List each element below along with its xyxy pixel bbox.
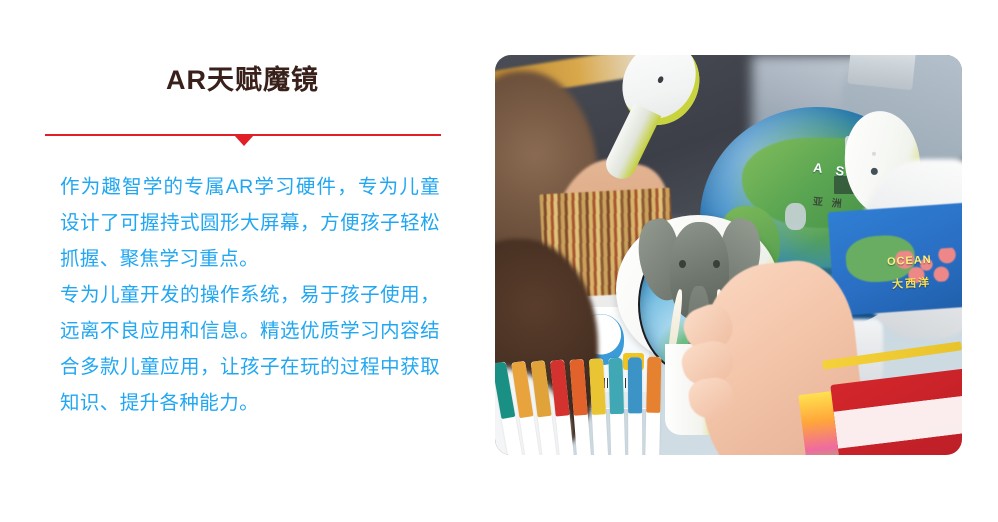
marker-pen (628, 357, 642, 455)
page-title: AR天赋魔镜 (45, 64, 440, 96)
package-drip-graphic (833, 393, 962, 450)
marker-pen (589, 358, 609, 455)
text-panel: AR天赋魔镜 作为趣智学的专属AR学习硬件，专为儿童设计了可握持式圆形大屏幕，方… (0, 0, 480, 522)
product-photo: A S I A 亚 洲 INDIAN OCEAN NORTH OCEAN 大 (495, 55, 962, 455)
device-top-handle (602, 103, 662, 183)
description-paragraph-2: 专为儿童开发的操作系统，易于孩子使用，远离不良应用和信息。精选优质学习内容结合多… (60, 277, 440, 421)
description-block: 作为趣智学的专属AR学习硬件，专为儿童设计了可握持式圆形大屏幕，方便孩子轻松抓握… (60, 169, 440, 421)
marker-pen-cap (550, 359, 569, 416)
map-label-ocean-chinese: 大西洋 (892, 274, 932, 292)
globe-label-asia-chinese: 亚 洲 (812, 193, 845, 211)
marker-pen-cap (570, 359, 588, 416)
photo-scene: A S I A 亚 洲 INDIAN OCEAN NORTH OCEAN 大 (495, 55, 962, 455)
marker-pen-cap (589, 358, 606, 414)
marker-pen (645, 357, 661, 455)
marker-pen-cap (646, 357, 661, 413)
marker-pen (609, 358, 626, 455)
globe-koala-icon (785, 203, 806, 230)
product-feature-banner: AR天赋魔镜 作为趣智学的专属AR学习硬件，专为儿童设计了可握持式圆形大屏幕，方… (0, 0, 998, 522)
map-label-ocean: OCEAN (887, 254, 932, 268)
marker-pen-cap (531, 360, 552, 417)
marker-pen-cap (609, 358, 624, 414)
description-paragraph-1: 作为趣智学的专属AR学习硬件，专为儿童设计了可握持式圆形大屏幕，方便孩子轻松抓握… (60, 169, 440, 277)
marker-pen-cap (628, 357, 642, 413)
divider-down-arrow-icon (234, 135, 254, 146)
marker-pen-cap (512, 361, 534, 418)
marker-pen-set (495, 356, 684, 455)
